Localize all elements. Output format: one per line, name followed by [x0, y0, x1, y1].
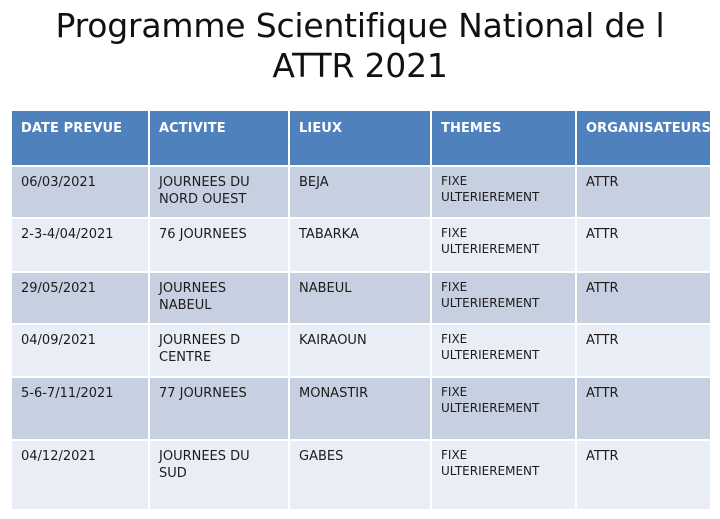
table-row: 04/12/2021 JOURNEES DU SUD GABES FIXE UL… — [11, 440, 711, 510]
cell-organisateurs: ATTR — [576, 377, 711, 440]
column-header-activite: ACTIVITE — [149, 111, 289, 166]
cell-lieux: NABEUL — [289, 272, 431, 324]
column-header-lieux: LIEUX — [289, 111, 431, 166]
cell-activite: JOURNEES DU SUD — [149, 440, 289, 510]
cell-lieux: TABARKA — [289, 218, 431, 272]
cell-date: 04/09/2021 — [11, 324, 149, 377]
schedule-table: DATE PREVUE ACTIVITE LIEUX THEMES ORGANI… — [10, 111, 712, 511]
cell-lieux: GABES — [289, 440, 431, 510]
cell-lieux: BEJA — [289, 166, 431, 218]
cell-activite: JOURNEES D CENTRE — [149, 324, 289, 377]
column-header-themes: THEMES — [431, 111, 576, 166]
page-title-line-2: ATTR 2021 — [0, 46, 720, 86]
cell-activite: JOURNEES DU NORD OUEST — [149, 166, 289, 218]
cell-themes: FIXE ULTERIEREMENT — [431, 377, 576, 440]
column-header-organisateurs: ORGANISATEURS — [576, 111, 711, 166]
cell-date: 06/03/2021 — [11, 166, 149, 218]
cell-themes: FIXE ULTERIEREMENT — [431, 324, 576, 377]
table-header-row: DATE PREVUE ACTIVITE LIEUX THEMES ORGANI… — [11, 111, 711, 166]
cell-date: 29/05/2021 — [11, 272, 149, 324]
column-header-date-prevue: DATE PREVUE — [11, 111, 149, 166]
cell-activite: 77 JOURNEES — [149, 377, 289, 440]
cell-lieux: KAIRAOUN — [289, 324, 431, 377]
cell-date: 5-6-7/11/2021 — [11, 377, 149, 440]
cell-organisateurs: ATTR — [576, 440, 711, 510]
cell-organisateurs: ATTR — [576, 166, 711, 218]
cell-themes: FIXE ULTERIEREMENT — [431, 272, 576, 324]
table-row: 2-3-4/04/2021 76 JOURNEES TABARKA FIXE U… — [11, 218, 711, 272]
cell-themes: FIXE ULTERIEREMENT — [431, 166, 576, 218]
table-row: 06/03/2021 JOURNEES DU NORD OUEST BEJA F… — [11, 166, 711, 218]
cell-organisateurs: ATTR — [576, 218, 711, 272]
table-body: 06/03/2021 JOURNEES DU NORD OUEST BEJA F… — [11, 166, 711, 510]
cell-themes: FIXE ULTERIEREMENT — [431, 440, 576, 510]
table-row: 29/05/2021 JOURNEES NABEUL NABEUL FIXE U… — [11, 272, 711, 324]
cell-activite: JOURNEES NABEUL — [149, 272, 289, 324]
cell-organisateurs: ATTR — [576, 324, 711, 377]
table-header: DATE PREVUE ACTIVITE LIEUX THEMES ORGANI… — [11, 111, 711, 166]
cell-organisateurs: ATTR — [576, 272, 711, 324]
cell-themes: FIXE ULTERIEREMENT — [431, 218, 576, 272]
page-title-line-1: Programme Scientifique National de l — [0, 6, 720, 46]
cell-date: 2-3-4/04/2021 — [11, 218, 149, 272]
table-row: 04/09/2021 JOURNEES D CENTRE KAIRAOUN FI… — [11, 324, 711, 377]
table-row: 5-6-7/11/2021 77 JOURNEES MONASTIR FIXE … — [11, 377, 711, 440]
cell-date: 04/12/2021 — [11, 440, 149, 510]
cell-lieux: MONASTIR — [289, 377, 431, 440]
cell-activite: 76 JOURNEES — [149, 218, 289, 272]
page-title: Programme Scientifique National de l ATT… — [0, 6, 720, 87]
